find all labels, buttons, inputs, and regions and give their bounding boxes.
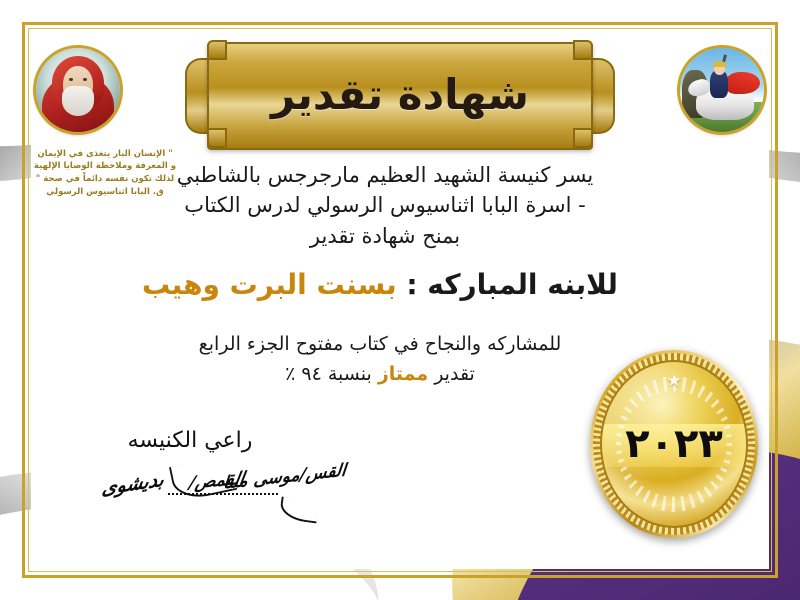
grade-prefix: تقدير xyxy=(428,363,475,385)
seal-year: ٢٠٢٣ xyxy=(602,362,746,526)
title-banner: شهادة تقدير xyxy=(185,42,615,146)
achievement-block: للمشاركه والنجاح في كتاب مفتوح الجزء الر… xyxy=(110,330,650,389)
signature-marks-row: القس/موسى مينا القمص/ بديشوى xyxy=(40,455,340,511)
body-line-3: بمنح شهادة تقدير xyxy=(120,221,650,251)
achievement-reason: للمشاركه والنجاح في كتاب مفتوح الجزء الر… xyxy=(110,330,650,359)
saint-george-horseman-icon xyxy=(680,48,764,132)
rider-helmet-shape xyxy=(713,61,726,67)
quote-line-2: و المعرفة وملاحظة الوصايا الإلهية xyxy=(12,160,198,172)
certificate-title: شهادة تقدير xyxy=(185,42,615,146)
quote-block: " الإنسان البار يتغذى في الإيمان و المعر… xyxy=(12,148,198,198)
signature-block: راعي الكنيسه القس/موسى مينا القمص/ بديشو… xyxy=(40,428,340,511)
quote-source: ق. البابا اثناسيوس الرسولي xyxy=(12,186,198,198)
body-line-2: - اسرة البابا اثناسيوس الرسولي لدرس الكت… xyxy=(120,190,650,220)
grade-line: تقدير ممتاز بنسبة ٩٤ ٪ xyxy=(110,359,650,389)
grade-word: ممتاز xyxy=(378,363,428,385)
grade-suffix: بنسبة ٩٤ ٪ xyxy=(285,363,378,385)
quote-line-1: " الإنسان البار يتغذى في الإيمان xyxy=(12,148,198,160)
signature-mark-left: بديشوى xyxy=(101,468,166,499)
quote-line-3: لذلك تكون نفسه دائماً في صحة " xyxy=(12,173,198,185)
gold-medal-seal-icon: ★ ٢٠٢٣ xyxy=(590,350,758,538)
red-cape-shape xyxy=(726,72,760,94)
saint-portrait-icon xyxy=(36,48,120,132)
recipient-name: بسنت البرت وهيب xyxy=(142,268,397,301)
seal-face: ★ ٢٠٢٣ xyxy=(600,360,748,528)
certificate-page: شهادة تقدير " الإنسان البار يتغذى في الإ… xyxy=(0,0,800,600)
signature-title: راعي الكنيسه xyxy=(40,428,340,453)
body-text-block: يسر كنيسة الشهيد العظيم مارجرجس بالشاطبي… xyxy=(120,160,650,251)
eye-left-shape xyxy=(69,78,73,81)
body-line-1: يسر كنيسة الشهيد العظيم مارجرجس بالشاطبي xyxy=(120,160,650,190)
recipient-label: للابنه المباركه : xyxy=(397,268,618,301)
recipient-line: للابنه المباركه : بسنت البرت وهيب xyxy=(90,268,670,301)
eye-right-shape xyxy=(83,78,87,81)
beard-shape xyxy=(62,86,94,116)
